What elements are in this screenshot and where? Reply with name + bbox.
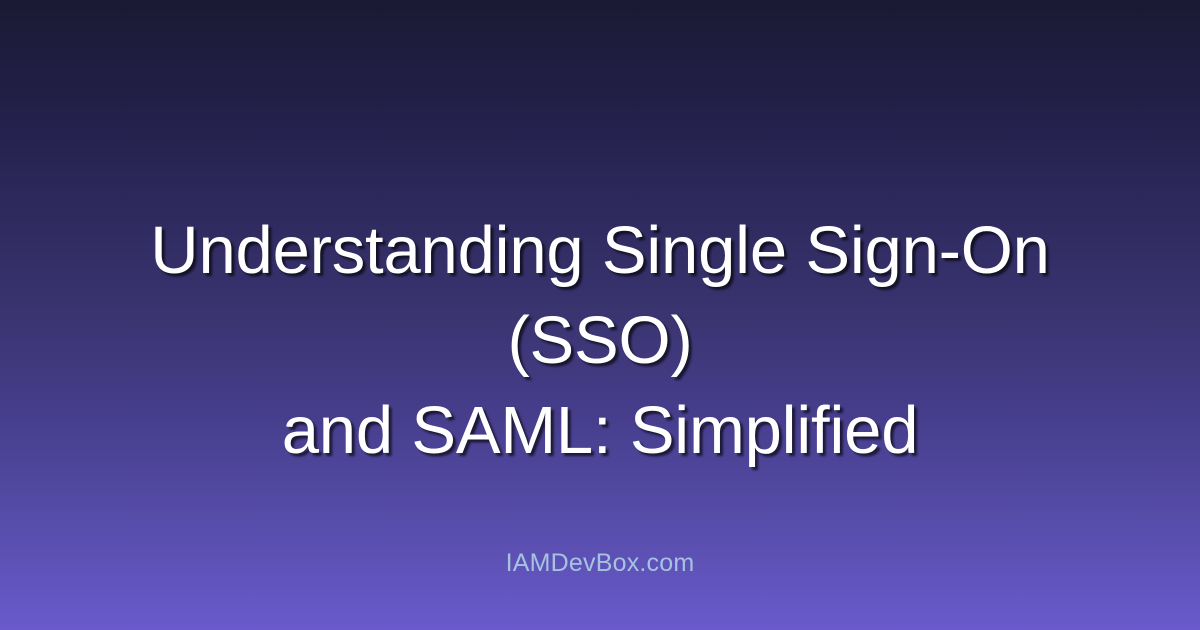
attribution-block: IAMDevBox.com	[0, 548, 1200, 578]
site-attribution: IAMDevBox.com	[506, 548, 695, 578]
social-share-card: Understanding Single Sign-On (SSO) and S…	[0, 0, 1200, 630]
headline-block: Understanding Single Sign-On (SSO) and S…	[0, 206, 1200, 476]
page-title: Understanding Single Sign-On (SSO) and S…	[70, 206, 1130, 476]
